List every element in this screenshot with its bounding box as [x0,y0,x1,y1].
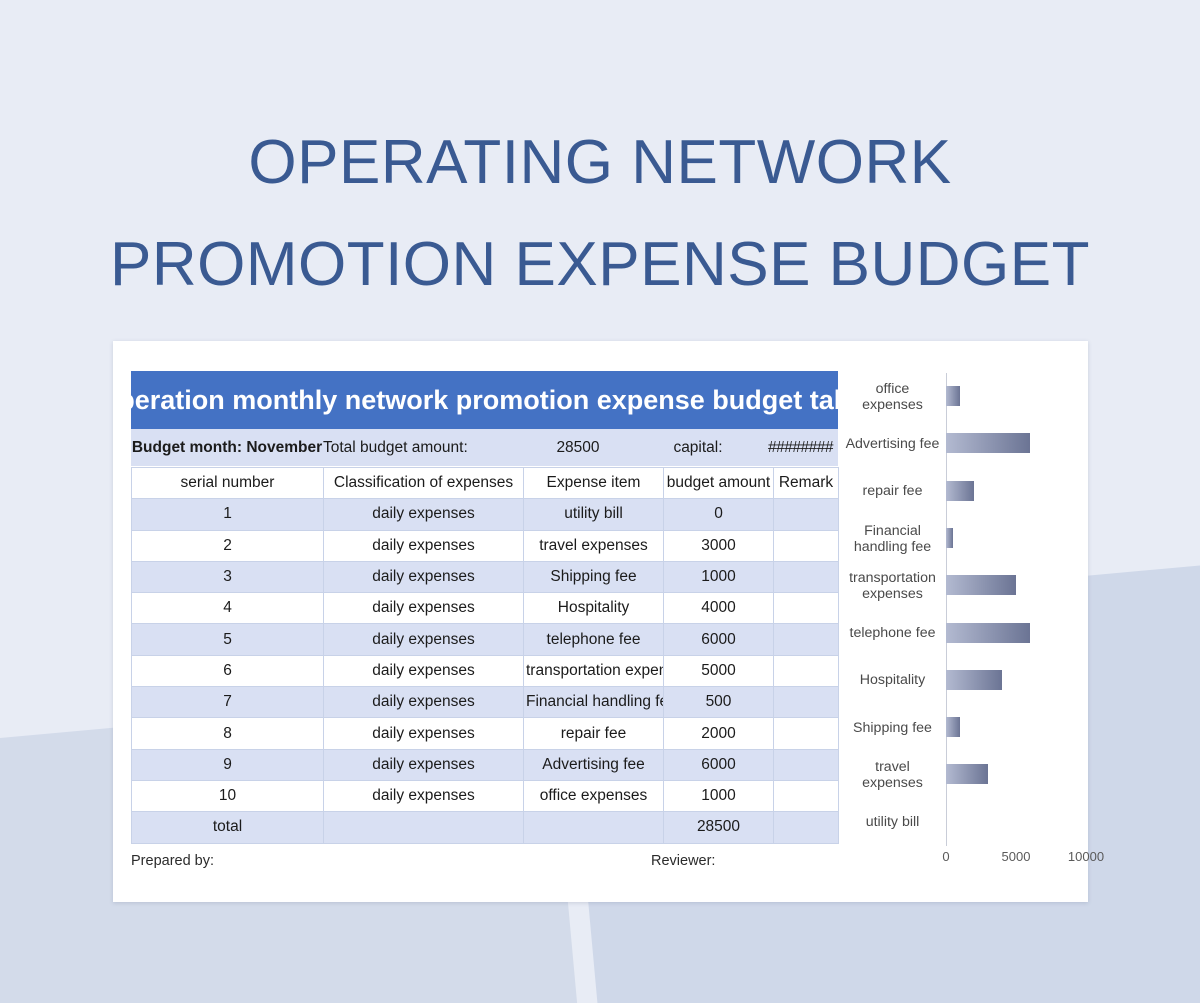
table-row: 1 daily expenses utility bill 0 [132,499,839,530]
chart-bar-row: Advertising fee [844,420,1070,467]
budget-table: serial number Classification of expenses… [131,467,839,844]
chart-bar [946,575,1016,595]
sheet-summary-bar: Budget month: November Total budget amou… [131,429,838,467]
chart-x-axis: 0500010000 [844,849,1070,869]
chart-bar [946,481,974,501]
cell-serial-number: 9 [132,749,324,780]
chart-bar-slot [944,751,1070,798]
chart-bar-row: Financial handling fee [844,515,1070,562]
chart-bar-slot [944,562,1070,609]
cell-budget-amount: 0 [664,499,774,530]
total-budget-label: Total budget amount: [323,439,523,457]
chart-bar-row: Hospitality [844,657,1070,704]
cell-expense-item: travel expenses [524,530,664,561]
cell-classification: daily expenses [324,718,524,749]
table-row: 8 daily expenses repair fee 2000 [132,718,839,749]
cell-total-remark [774,812,839,843]
table-row: 3 daily expenses Shipping fee 1000 [132,561,839,592]
cell-serial-number: 5 [132,624,324,655]
reviewer-label: Reviewer: [651,853,715,869]
chart-x-tick-label: 5000 [1002,849,1031,864]
cell-serial-number: 8 [132,718,324,749]
budget-month-value: Budget month: November [131,439,323,457]
chart-bar-row: Shipping fee [844,704,1070,751]
table-row: 6 daily expenses transportation expenses… [132,655,839,686]
chart-bar-row: office expenses [844,373,1070,420]
budget-spreadsheet: Operation monthly network promotion expe… [131,371,838,869]
cell-budget-amount: 4000 [664,593,774,624]
chart-bar [946,670,1002,690]
chart-category-label: office expenses [844,381,944,413]
table-row: 7 daily expenses Financial handling fee … [132,687,839,718]
chart-bar-slot [944,515,1070,562]
cell-budget-amount: 3000 [664,530,774,561]
chart-category-label: transportation expenses [844,570,944,602]
chart-bar-row: transportation expenses [844,562,1070,609]
budget-table-body: 1 daily expenses utility bill 0 2 daily … [132,499,839,843]
cell-serial-number: 7 [132,687,324,718]
cell-expense-item: Hospitality [524,593,664,624]
chart-category-label: Hospitality [844,672,944,688]
cell-total-item [524,812,664,843]
sheet-title-bar: Operation monthly network promotion expe… [131,371,838,429]
cell-expense-item: Advertising fee [524,749,664,780]
cell-expense-item: repair fee [524,718,664,749]
cell-total-classification [324,812,524,843]
cell-expense-item: office expenses [524,780,664,811]
table-row: 4 daily expenses Hospitality 4000 [132,593,839,624]
budget-table-head: serial number Classification of expenses… [132,468,839,499]
cell-classification: daily expenses [324,499,524,530]
cell-serial-number: 1 [132,499,324,530]
cell-serial-number: 6 [132,655,324,686]
capital-value: ######## [763,439,838,457]
sheet-footer: Prepared by: Reviewer: [131,853,838,869]
chart-bar-slot [944,657,1070,704]
cell-budget-amount: 500 [664,687,774,718]
capital-label: capital: [633,439,763,457]
table-total-row: total 28500 [132,812,839,843]
cell-budget-amount: 1000 [664,780,774,811]
cell-budget-amount: 1000 [664,561,774,592]
chart-bar-slot [944,704,1070,751]
chart-bar-row: utility bill [844,799,1070,846]
sheet-title-text: Operation monthly network promotion expe… [131,371,838,429]
cell-serial-number: 4 [132,593,324,624]
cell-classification: daily expenses [324,561,524,592]
column-header-budget-amount: budget amount [664,468,774,499]
chart-bar-row: telephone fee [844,610,1070,657]
cell-remark [774,561,839,592]
chart-x-tick-label: 0 [942,849,949,864]
prepared-by-label: Prepared by: [131,853,651,869]
chart-bar [946,764,988,784]
chart-bar [946,528,953,548]
cell-budget-amount: 6000 [664,624,774,655]
page-title-line-2: PROMOTION EXPENSE BUDGET [0,214,1200,316]
document-card: Operation monthly network promotion expe… [113,341,1088,902]
chart-bar-slot [944,468,1070,515]
chart-category-label: repair fee [844,483,944,499]
chart-bar [946,623,1030,643]
page-title: OPERATING NETWORK PROMOTION EXPENSE BUDG… [0,112,1200,316]
cell-classification: daily expenses [324,655,524,686]
chart-plot-area: office expensesAdvertising feerepair fee… [844,373,1070,846]
cell-remark [774,780,839,811]
column-header-expense-item: Expense item [524,468,664,499]
table-row: 9 daily expenses Advertising fee 6000 [132,749,839,780]
table-header-row: serial number Classification of expenses… [132,468,839,499]
expense-bar-chart: office expensesAdvertising feerepair fee… [844,373,1070,873]
cell-remark [774,499,839,530]
cell-classification: daily expenses [324,624,524,655]
chart-bar [946,433,1030,453]
cell-total-label: total [132,812,324,843]
chart-bar [946,386,960,406]
table-row: 5 daily expenses telephone fee 6000 [132,624,839,655]
chart-category-label: Financial handling fee [844,523,944,555]
cell-expense-item: Shipping fee [524,561,664,592]
table-row: 10 daily expenses office expenses 1000 [132,780,839,811]
cell-classification: daily expenses [324,749,524,780]
chart-bar-slot [944,373,1070,420]
chart-bar-slot [944,799,1070,846]
cell-remark [774,530,839,561]
cell-serial-number: 3 [132,561,324,592]
chart-category-label: utility bill [844,814,944,830]
chart-category-label: Shipping fee [844,720,944,736]
document-inner: Operation monthly network promotion expe… [131,371,1071,881]
cell-expense-item: utility bill [524,499,664,530]
cell-remark [774,718,839,749]
chart-bar-slot [944,610,1070,657]
chart-category-label: Advertising fee [844,436,944,452]
chart-category-label: telephone fee [844,625,944,641]
chart-bar-slot [944,420,1070,467]
cell-remark [774,749,839,780]
cell-budget-amount: 6000 [664,749,774,780]
column-header-classification: Classification of expenses [324,468,524,499]
chart-category-label: travel expenses [844,759,944,791]
cell-remark [774,624,839,655]
column-header-remark: Remark [774,468,839,499]
cell-classification: daily expenses [324,530,524,561]
cell-remark [774,655,839,686]
cell-remark [774,593,839,624]
cell-classification: daily expenses [324,593,524,624]
total-budget-value: 28500 [523,439,633,457]
chart-bar-row: repair fee [844,468,1070,515]
chart-bar-row: travel expenses [844,751,1070,798]
cell-remark [774,687,839,718]
cell-budget-amount: 2000 [664,718,774,749]
table-row: 2 daily expenses travel expenses 3000 [132,530,839,561]
cell-total-amount: 28500 [664,812,774,843]
cell-budget-amount: 5000 [664,655,774,686]
cell-expense-item: transportation expenses [524,655,664,686]
cell-expense-item: Financial handling fee [524,687,664,718]
chart-x-tick-label: 10000 [1068,849,1104,864]
cell-serial-number: 2 [132,530,324,561]
cell-serial-number: 10 [132,780,324,811]
column-header-serial-number: serial number [132,468,324,499]
cell-classification: daily expenses [324,687,524,718]
cell-expense-item: telephone fee [524,624,664,655]
chart-bar [946,717,960,737]
cell-classification: daily expenses [324,780,524,811]
page-title-line-1: OPERATING NETWORK [0,112,1200,214]
